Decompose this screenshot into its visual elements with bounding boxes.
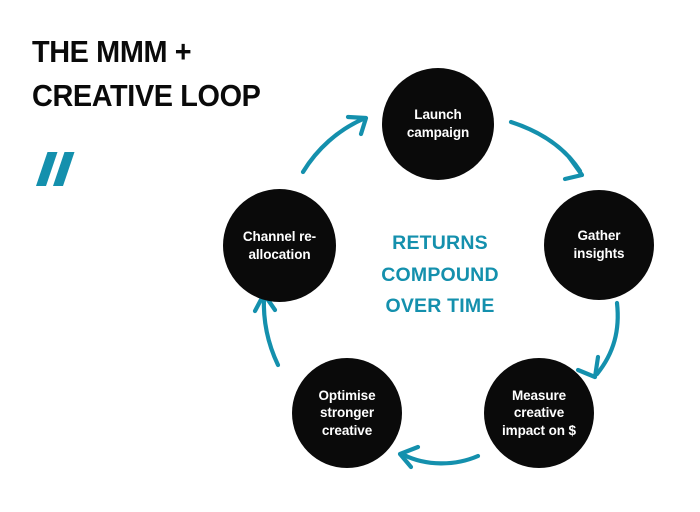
cycle-node-measure[interactable]: Measurecreativeimpact on $ xyxy=(484,358,594,468)
cycle-node-launch[interactable]: Launchcampaign xyxy=(382,68,494,180)
cycle-node-gather-label: Gatherinsights xyxy=(564,227,635,262)
center-caption-line-3: OVER TIME xyxy=(352,291,528,323)
cycle-node-optimise-label: Optimisestrongercreative xyxy=(309,387,386,440)
cycle-node-measure-label: Measurecreativeimpact on $ xyxy=(492,387,586,440)
cycle-node-launch-label: Launchcampaign xyxy=(397,106,479,141)
arrow-launch-to-gather xyxy=(511,122,582,179)
center-caption-line-1: RETURNS xyxy=(352,228,528,260)
cycle-center-caption: RETURNS COMPOUND OVER TIME xyxy=(352,228,528,323)
cycle-node-gather[interactable]: Gatherinsights xyxy=(544,190,654,300)
cycle-node-channel-label: Channel re-allocation xyxy=(233,228,326,263)
cycle-diagram: Launchcampaign Gatherinsights Measurecre… xyxy=(0,0,700,512)
arrow-measure-to-optimise xyxy=(400,447,478,467)
cycle-node-channel[interactable]: Channel re-allocation xyxy=(223,189,336,302)
arrow-gather-to-measure xyxy=(578,303,618,377)
arrow-channel-to-launch xyxy=(303,117,366,172)
arrow-optimise-to-channel xyxy=(255,294,278,365)
center-caption-line-2: COMPOUND xyxy=(352,260,528,292)
cycle-node-optimise[interactable]: Optimisestrongercreative xyxy=(292,358,402,468)
slide-canvas: THE MMM + CREATIVE LOOP xyxy=(0,0,700,512)
